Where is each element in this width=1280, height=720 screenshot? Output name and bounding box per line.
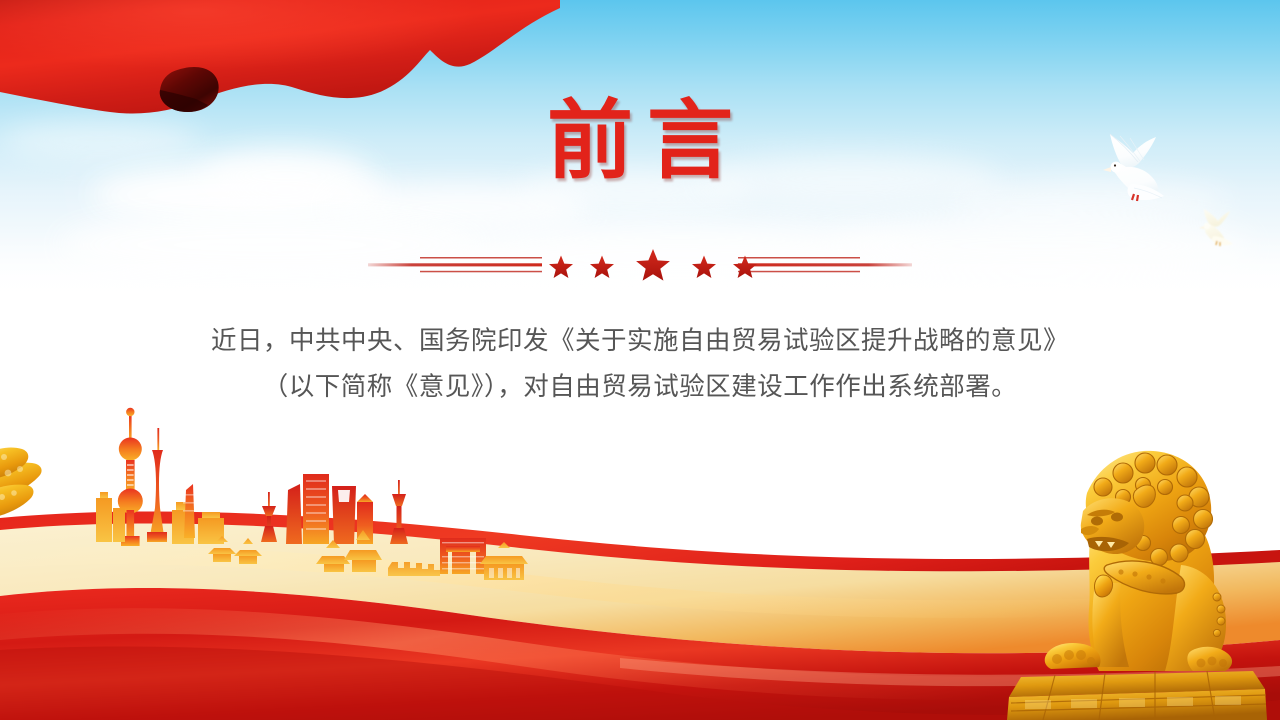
body-line-1: 近日，中共中央、国务院印发《关于实施自由贸易试验区提升战略的意见》	[140, 318, 1140, 364]
body-text: 近日，中共中央、国务院印发《关于实施自由贸易试验区提升战略的意见》 （以下简称《…	[140, 318, 1140, 410]
golden-wheat-ornament	[0, 405, 85, 610]
china-city-skyline-silhouette	[0, 398, 700, 588]
page-title: 前言	[0, 98, 1280, 184]
slide-canvas: 前言	[0, 0, 1280, 720]
golden-guardian-lion-statue	[995, 415, 1280, 720]
five-stars-divider	[0, 244, 1280, 284]
